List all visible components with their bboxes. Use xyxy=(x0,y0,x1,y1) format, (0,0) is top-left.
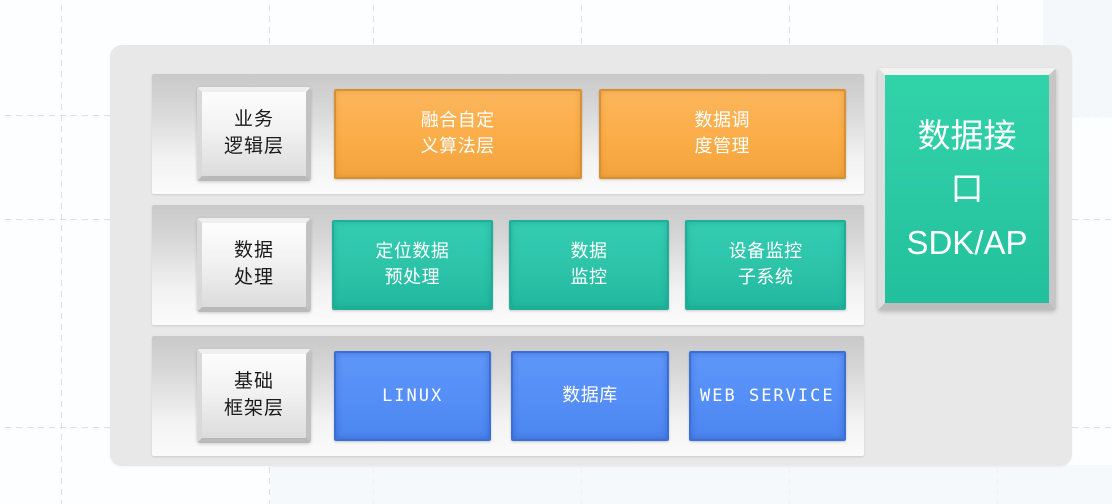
module-text-line1: WEB SERVICE xyxy=(700,384,835,408)
module-text-line1: 定位数据 xyxy=(375,239,449,265)
layer-label-data-processing: 数据 处理 xyxy=(197,218,311,312)
module-text-line2: 子系统 xyxy=(738,265,794,291)
module-text-line1: 数据调 xyxy=(695,108,751,134)
module-group-data-processing: 定位数据 预处理 数据 监控 设备监控 子系统 xyxy=(332,220,846,310)
layer-band-data-processing: 数据 处理 定位数据 预处理 数据 监控 设备监控 子系统 xyxy=(152,205,864,325)
module-box[interactable]: 设备监控 子系统 xyxy=(685,220,846,310)
data-interface-sdk-label: SDK/AP xyxy=(906,216,1027,269)
layer-band-business-logic: 业务 逻辑层 融合自定 义算法层 数据调 度管理 xyxy=(152,74,864,194)
module-text-line1: 融合自定 xyxy=(421,108,495,134)
background-tint-bottom xyxy=(270,465,1112,504)
layer-label-base-framework: 基础 框架层 xyxy=(197,349,311,443)
module-box[interactable]: 数据 监控 xyxy=(509,220,670,310)
layer-label-line1: 业务 xyxy=(234,107,274,134)
module-text-line2: 预处理 xyxy=(385,265,441,291)
module-text-line2: 监控 xyxy=(571,265,608,291)
layer-label-line2: 逻辑层 xyxy=(224,134,284,161)
module-text-line1: 设备监控 xyxy=(729,239,803,265)
module-box[interactable]: WEB SERVICE xyxy=(689,351,846,441)
module-box[interactable]: 融合自定 义算法层 xyxy=(334,89,582,179)
layer-label-line1: 基础 xyxy=(234,369,274,396)
architecture-container: 业务 逻辑层 融合自定 义算法层 数据调 度管理 数据 处理 xyxy=(110,45,1072,466)
module-text-line1: 数据 xyxy=(571,239,608,265)
module-text-line1: LINUX xyxy=(382,384,443,408)
data-interface-title: 数据接口 xyxy=(911,109,1023,216)
module-text-line2: 义算法层 xyxy=(421,134,495,160)
diagram-canvas: 业务 逻辑层 融合自定 义算法层 数据调 度管理 数据 处理 xyxy=(0,0,1112,504)
module-box[interactable]: 数据库 xyxy=(511,351,668,441)
module-group-business-logic: 融合自定 义算法层 数据调 度管理 xyxy=(334,89,846,179)
layer-band-base-framework: 基础 框架层 LINUX 数据库 WEB SERVICE xyxy=(152,336,864,456)
module-box[interactable]: 数据调 度管理 xyxy=(599,89,847,179)
data-interface-panel[interactable]: 数据接口 SDK/AP xyxy=(878,68,1056,310)
layer-label-business-logic: 业务 逻辑层 xyxy=(197,87,311,181)
module-box[interactable]: LINUX xyxy=(334,351,491,441)
module-group-base-framework: LINUX 数据库 WEB SERVICE xyxy=(334,351,846,441)
layer-label-line2: 处理 xyxy=(234,265,274,292)
module-box[interactable]: 定位数据 预处理 xyxy=(332,220,493,310)
module-text-line2: 度管理 xyxy=(695,134,751,160)
layer-label-line1: 数据 xyxy=(234,238,274,265)
layer-label-line2: 框架层 xyxy=(224,396,284,423)
module-text-line1: 数据库 xyxy=(562,383,618,409)
